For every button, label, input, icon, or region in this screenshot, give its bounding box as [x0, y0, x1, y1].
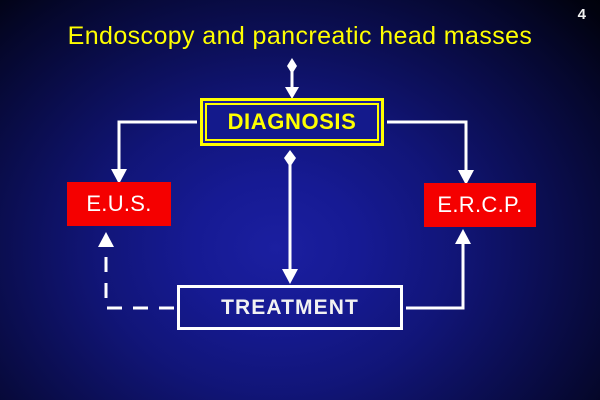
node-diagnosis-label: DIAGNOSIS [228, 109, 357, 135]
node-eus[interactable]: E.U.S. [67, 182, 171, 226]
node-diagnosis[interactable]: DIAGNOSIS [200, 98, 384, 146]
connector-diagnosis-to-eus [111, 122, 197, 184]
connector-diagnosis-to-treatment [282, 150, 298, 284]
node-treatment[interactable]: TREATMENT [177, 285, 403, 330]
node-ercp-label: E.R.C.P. [437, 192, 522, 218]
connector-treatment-to-ercp [406, 229, 471, 308]
connector-treatment-to-eus [98, 232, 174, 308]
connector-diagnosis-to-ercp [387, 122, 474, 185]
connector-top-to-diagnosis [285, 58, 299, 99]
node-treatment-label: TREATMENT [221, 296, 359, 320]
slide-canvas: Endoscopy and pancreatic head masses 4 [0, 0, 600, 400]
node-eus-label: E.U.S. [86, 191, 151, 217]
node-ercp[interactable]: E.R.C.P. [424, 183, 536, 227]
